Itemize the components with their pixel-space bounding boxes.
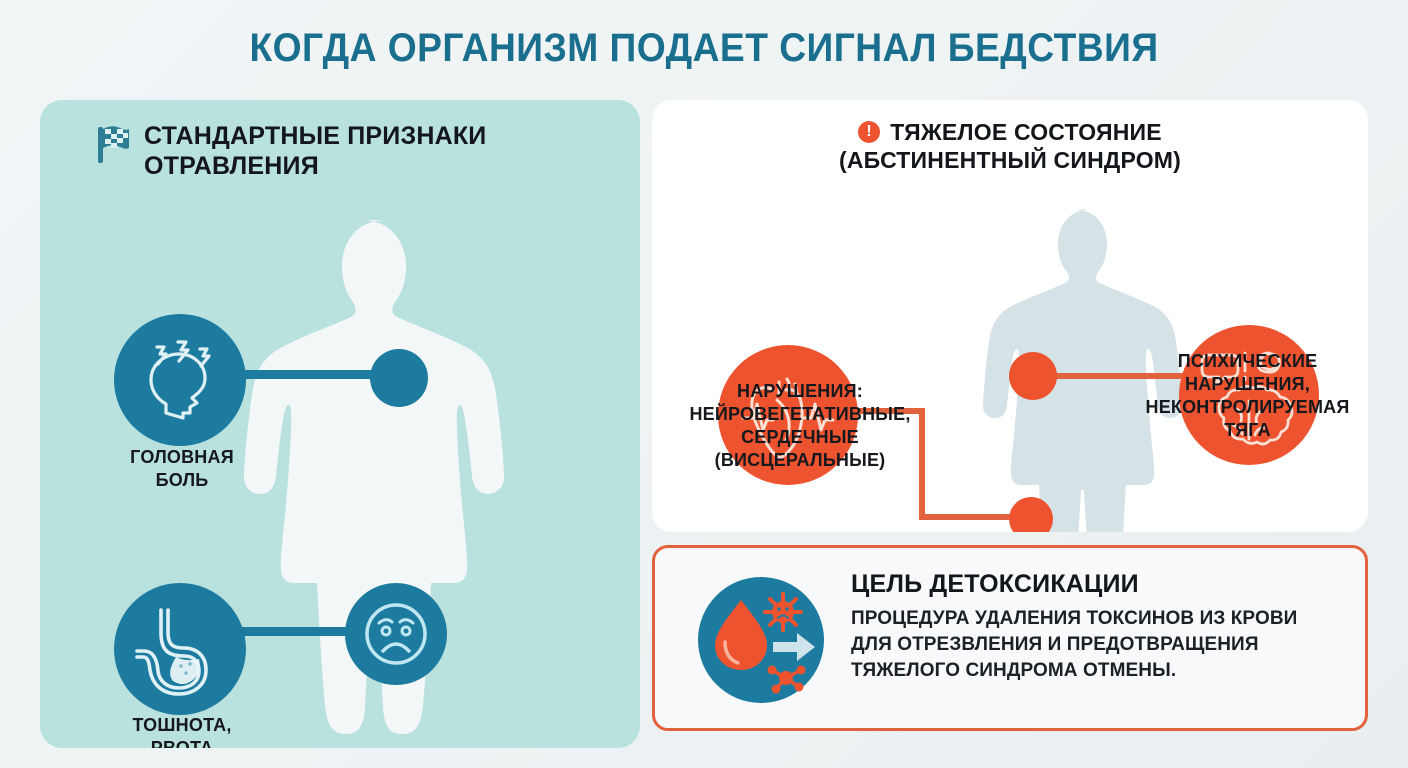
left-panel-heading: СТАНДАРТНЫЕ ПРИЗНАКИ ОТРАВЛЕНИЯ bbox=[144, 122, 486, 181]
detox-body-line1: ПРОЦЕДУРА УДАЛЕНИЯ ТОКСИНОВ ИЗ КРОВИ bbox=[851, 606, 1351, 632]
blood-drop-detox-icon[interactable] bbox=[691, 570, 831, 710]
severe-condition-panel: ! ТЯЖЕЛОЕ СОСТОЯНИЕ (АБСТИНЕНТНЫЙ СИНДРО… bbox=[652, 100, 1368, 532]
left-heading-line1: СТАНДАРТНЫЕ ПРИЗНАКИ bbox=[144, 122, 486, 152]
sad-face-icon[interactable] bbox=[345, 583, 447, 685]
detox-goal-card: ЦЕЛЬ ДЕТОКСИКАЦИИ ПРОЦЕДУРА УДАЛЕНИЯ ТОК… bbox=[652, 545, 1368, 731]
right-heading-line2: (АБСТИНЕНТНЫЙ СИНДРОМ) bbox=[652, 146, 1368, 174]
detox-body-line2: ДЛЯ ОТРЕЗВЛЕНИЯ И ПРЕДОТВРАЩЕНИЯ bbox=[851, 632, 1351, 658]
right-heading-line1: ТЯЖЕЛОЕ СОСТОЯНИЕ bbox=[890, 118, 1162, 146]
detox-description: ПРОЦЕДУРА УДАЛЕНИЯ ТОКСИНОВ ИЗ КРОВИ ДЛЯ… bbox=[851, 606, 1351, 683]
left-heading-line2: ОТРАВЛЕНИЯ bbox=[144, 152, 486, 182]
head-marker-dot-right[interactable] bbox=[1009, 352, 1057, 400]
left-panel-header: СТАНДАРТНЫЕ ПРИЗНАКИ ОТРАВЛЕНИЯ bbox=[96, 122, 596, 181]
nausea-label-line2: РВОТА bbox=[84, 737, 280, 748]
visceral-label-line4: (ВИСЦЕРАЛЬНЫЕ) bbox=[660, 449, 940, 472]
page-title: КОГДА ОРГАНИЗМ ПОДАЕТ СИГНАЛ БЕДСТВИЯ bbox=[49, 26, 1358, 71]
checkered-flag-icon bbox=[96, 124, 130, 169]
visceral-label-line3: СЕРДЕЧНЫЕ bbox=[660, 426, 940, 449]
exclamation-circle-icon: ! bbox=[858, 121, 880, 143]
detox-title: ЦЕЛЬ ДЕТОКСИКАЦИИ bbox=[851, 570, 1139, 599]
nausea-label-line1: ТОШНОТА, bbox=[84, 714, 280, 737]
psych-label-line3: НЕКОНТРОЛИРУЕМАЯ bbox=[1130, 396, 1365, 419]
psych-disorders-label: ПСИХИЧЕСКИЕ НАРУШЕНИЯ, НЕКОНТРОЛИРУЕМАЯ … bbox=[1130, 350, 1365, 442]
head-marker-dot[interactable] bbox=[370, 349, 428, 407]
visceral-label-line2: НЕЙРОВЕГЕТАТИВНЫЕ, bbox=[660, 403, 940, 426]
psych-label-line2: НАРУШЕНИЯ, bbox=[1130, 373, 1365, 396]
visceral-label-line1: НАРУШЕНИЯ: bbox=[660, 380, 940, 403]
visceral-disorders-label: НАРУШЕНИЯ: НЕЙРОВЕГЕТАТИВНЫЕ, СЕРДЕЧНЫЕ … bbox=[660, 380, 940, 472]
connector-line-headache bbox=[236, 370, 386, 379]
headache-label-line2: БОЛЬ bbox=[84, 469, 280, 492]
nausea-label: ТОШНОТА, РВОТА bbox=[84, 714, 280, 748]
psych-label-line1: ПСИХИЧЕСКИЕ bbox=[1130, 350, 1365, 373]
detox-body-line3: ТЯЖЕЛОГО СИНДРОМА ОТМЕНЫ. bbox=[851, 658, 1351, 684]
headache-label-line1: ГОЛОВНАЯ bbox=[84, 446, 280, 469]
psych-label-line4: ТЯГА bbox=[1130, 419, 1365, 442]
headache-icon[interactable] bbox=[114, 314, 246, 446]
headache-label: ГОЛОВНАЯ БОЛЬ bbox=[84, 446, 280, 492]
right-panel-header: ! ТЯЖЕЛОЕ СОСТОЯНИЕ (АБСТИНЕНТНЫЙ СИНДРО… bbox=[652, 118, 1368, 174]
standard-signs-panel: СТАНДАРТНЫЕ ПРИЗНАКИ ОТРАВЛЕНИЯ bbox=[40, 100, 640, 748]
stomach-icon[interactable] bbox=[114, 583, 246, 715]
